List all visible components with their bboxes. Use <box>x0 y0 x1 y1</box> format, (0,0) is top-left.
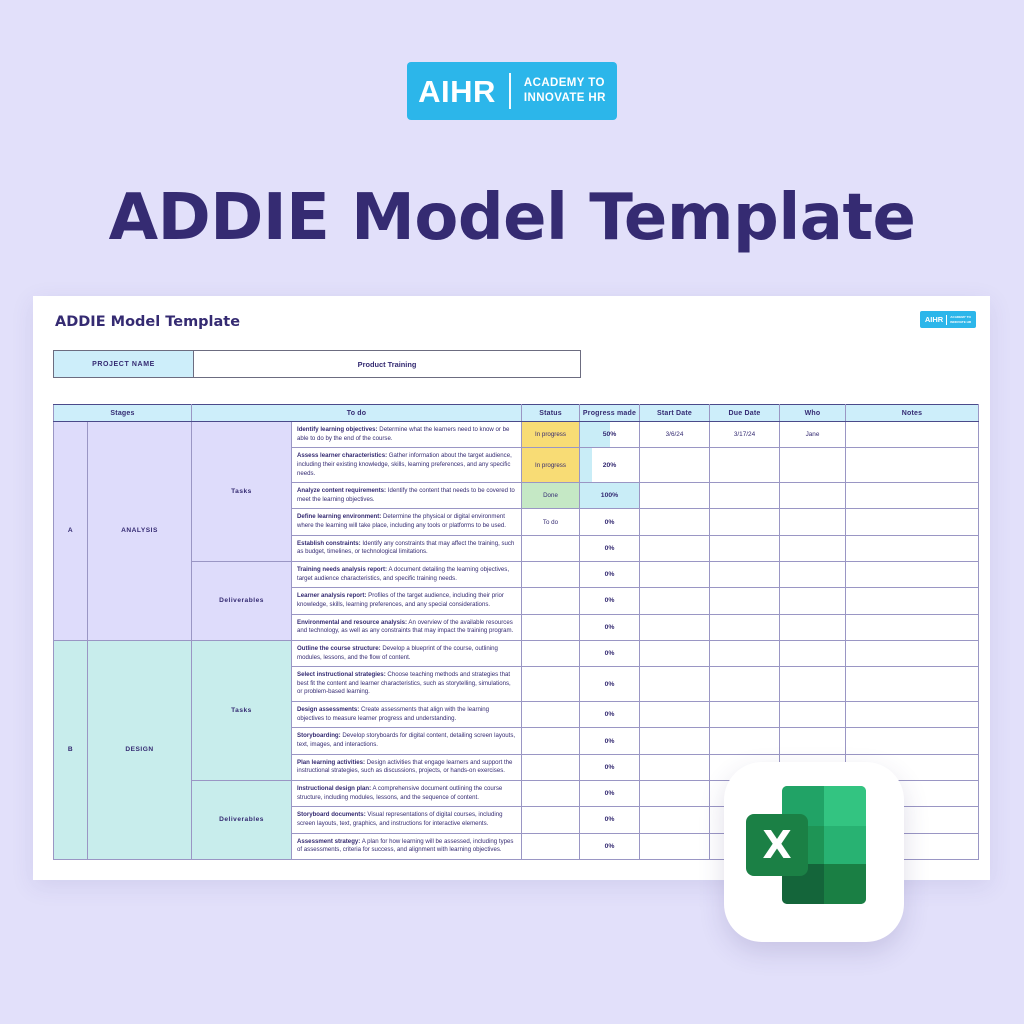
sheet-aihr-logo: AIHR ACADEMY TO INNOVATE HR <box>920 311 976 328</box>
who-cell[interactable] <box>780 448 846 483</box>
task-title: Training needs analysis report: <box>297 566 387 573</box>
who-cell[interactable] <box>780 509 846 535</box>
sheet-logo-wordmark: AIHR <box>925 315 943 324</box>
start-date-cell[interactable] <box>640 509 710 535</box>
col-header-stages[interactable]: Stages <box>54 405 192 422</box>
who-cell[interactable] <box>780 702 846 728</box>
due-date-cell[interactable] <box>710 535 780 561</box>
task-cell[interactable]: Analyze content requirements: Identify t… <box>292 483 522 509</box>
status-cell[interactable] <box>522 667 580 702</box>
progress-cell[interactable]: 0% <box>580 614 640 640</box>
status-cell[interactable] <box>522 702 580 728</box>
aihr-tagline-line1: ACADEMY TO <box>524 77 605 89</box>
due-date-cell[interactable] <box>710 702 780 728</box>
due-date-cell[interactable] <box>710 588 780 614</box>
task-title: Assess learner characteristics: <box>297 452 387 459</box>
progress-value: 0% <box>605 816 615 823</box>
progress-cell[interactable]: 0% <box>580 509 640 535</box>
task-title: Storyboard documents: <box>297 811 366 818</box>
start-date-cell[interactable] <box>640 640 710 666</box>
due-date-cell[interactable] <box>710 509 780 535</box>
who-cell[interactable] <box>780 640 846 666</box>
status-cell[interactable] <box>522 833 580 859</box>
notes-cell[interactable] <box>846 562 979 588</box>
table-row: AANALYSISTasksIdentify learning objectiv… <box>54 422 979 448</box>
sheet-logo-divider <box>946 315 947 325</box>
project-name-value[interactable]: Product Training <box>194 351 580 377</box>
col-header-todo[interactable]: To do <box>192 405 522 422</box>
task-title: Identify learning objectives: <box>297 426 378 433</box>
who-cell[interactable]: Jane <box>780 422 846 448</box>
task-title: Environmental and resource analysis: <box>297 619 407 626</box>
start-date-cell[interactable] <box>640 562 710 588</box>
task-title: Storyboarding: <box>297 732 341 739</box>
sheet-tagline-line2: INNOVATE HR <box>950 320 971 324</box>
notes-cell[interactable] <box>846 535 979 561</box>
col-header-start-date[interactable]: Start Date <box>640 405 710 422</box>
status-cell[interactable]: In progress <box>522 422 580 448</box>
progress-value: 0% <box>605 738 615 745</box>
progress-cell[interactable]: 0% <box>580 833 640 859</box>
status-cell[interactable]: Done <box>522 483 580 509</box>
due-date-cell[interactable] <box>710 667 780 702</box>
status-cell[interactable] <box>522 754 580 780</box>
progress-value: 0% <box>605 711 615 718</box>
stage-name: ANALYSIS <box>88 422 192 641</box>
task-title: Analyze content requirements: <box>297 487 386 494</box>
col-header-notes[interactable]: Notes <box>846 405 979 422</box>
stage-group-label: Tasks <box>192 640 292 780</box>
due-date-cell[interactable] <box>710 728 780 754</box>
aihr-logo: AIHR ACADEMY TO INNOVATE HR <box>407 62 617 120</box>
notes-cell[interactable] <box>846 448 979 483</box>
start-date-cell[interactable] <box>640 588 710 614</box>
notes-cell[interactable] <box>846 702 979 728</box>
page-title: ADDIE Model Template <box>0 181 1024 255</box>
start-date-cell[interactable] <box>640 448 710 483</box>
start-date-cell[interactable] <box>640 614 710 640</box>
notes-cell[interactable] <box>846 640 979 666</box>
status-cell[interactable] <box>522 780 580 806</box>
task-cell[interactable]: Instructional design plan: A comprehensi… <box>292 780 522 806</box>
progress-value: 100% <box>601 492 618 499</box>
progress-cell[interactable]: 0% <box>580 588 640 614</box>
start-date-cell[interactable] <box>640 780 710 806</box>
status-cell[interactable] <box>522 562 580 588</box>
status-cell[interactable] <box>522 535 580 561</box>
progress-cell[interactable]: 0% <box>580 780 640 806</box>
table-row: BDESIGNTasksOutline the course structure… <box>54 640 979 666</box>
status-cell[interactable] <box>522 588 580 614</box>
table-row: DeliverablesTraining needs analysis repo… <box>54 562 979 588</box>
progress-value: 0% <box>605 571 615 578</box>
start-date-cell[interactable] <box>640 702 710 728</box>
status-cell[interactable] <box>522 640 580 666</box>
progress-value: 0% <box>605 519 615 526</box>
progress-value: 0% <box>605 790 615 797</box>
progress-cell[interactable]: 0% <box>580 667 640 702</box>
task-title: Outline the course structure: <box>297 645 381 652</box>
progress-value: 0% <box>605 597 615 604</box>
task-cell[interactable]: Assessment strategy: A plan for how lear… <box>292 833 522 859</box>
start-date-cell[interactable] <box>640 535 710 561</box>
task-title: Assessment strategy: <box>297 838 360 845</box>
excel-x-tile: X <box>746 814 808 876</box>
task-title: Learner analysis report: <box>297 592 366 599</box>
stage-group-label: Deliverables <box>192 562 292 641</box>
task-cell[interactable]: Identify learning objectives: Determine … <box>292 422 522 448</box>
start-date-cell[interactable] <box>640 807 710 833</box>
start-date-cell[interactable] <box>640 667 710 702</box>
progress-bar-fill <box>580 448 592 482</box>
project-name-row: PROJECT NAME Product Training <box>53 350 581 378</box>
task-cell[interactable]: Establish constraints: Identify any cons… <box>292 535 522 561</box>
who-cell[interactable] <box>780 614 846 640</box>
notes-cell[interactable] <box>846 509 979 535</box>
project-name-label: PROJECT NAME <box>54 351 194 377</box>
progress-cell[interactable]: 0% <box>580 754 640 780</box>
aihr-tagline-line2: INNOVATE HR <box>524 92 606 104</box>
progress-cell[interactable]: 100% <box>580 483 640 509</box>
sheet-title: ADDIE Model Template <box>55 314 240 330</box>
col-header-status[interactable]: Status <box>522 405 580 422</box>
task-cell[interactable]: Plan learning activities: Design activit… <box>292 754 522 780</box>
due-date-cell[interactable] <box>710 483 780 509</box>
screenshot-root: AIHR ACADEMY TO INNOVATE HR ADDIE Model … <box>0 0 1024 1024</box>
task-cell[interactable]: Training needs analysis report: A docume… <box>292 562 522 588</box>
who-cell[interactable] <box>780 483 846 509</box>
task-cell[interactable]: Select instructional strategies: Choose … <box>292 667 522 702</box>
notes-cell[interactable] <box>846 422 979 448</box>
task-cell[interactable]: Define learning environment: Determine t… <box>292 509 522 535</box>
aihr-tagline: ACADEMY TO INNOVATE HR <box>524 76 606 106</box>
progress-cell[interactable]: 0% <box>580 807 640 833</box>
start-date-cell[interactable] <box>640 483 710 509</box>
start-date-cell[interactable] <box>640 833 710 859</box>
aihr-wordmark: AIHR <box>418 76 496 107</box>
due-date-cell[interactable] <box>710 448 780 483</box>
excel-file-icon: X <box>724 762 904 942</box>
notes-cell[interactable] <box>846 483 979 509</box>
progress-cell[interactable]: 20% <box>580 448 640 483</box>
status-cell[interactable] <box>522 614 580 640</box>
task-cell[interactable]: Learner analysis report: Profiles of the… <box>292 588 522 614</box>
task-cell[interactable]: Storyboarding: Develop storyboards for d… <box>292 728 522 754</box>
task-title: Design assessments: <box>297 706 359 713</box>
task-cell[interactable]: Design assessments: Create assessments t… <box>292 702 522 728</box>
sheet-logo-tagline: ACADEMY TO INNOVATE HR <box>950 315 971 323</box>
status-cell[interactable] <box>522 807 580 833</box>
task-cell[interactable]: Assess learner characteristics: Gather i… <box>292 448 522 483</box>
progress-cell[interactable]: 0% <box>580 640 640 666</box>
progress-value: 50% <box>603 431 617 438</box>
progress-cell[interactable]: 0% <box>580 535 640 561</box>
notes-cell[interactable] <box>846 667 979 702</box>
stage-group-label: Deliverables <box>192 780 292 859</box>
due-date-cell[interactable] <box>710 562 780 588</box>
progress-value: 0% <box>605 681 615 688</box>
task-cell[interactable]: Outline the course structure: Develop a … <box>292 640 522 666</box>
progress-value: 0% <box>605 843 615 850</box>
who-cell[interactable] <box>780 588 846 614</box>
due-date-cell[interactable]: 3/17/24 <box>710 422 780 448</box>
progress-value: 0% <box>605 650 615 657</box>
progress-value: 0% <box>605 764 615 771</box>
progress-value: 20% <box>603 462 617 469</box>
task-cell[interactable]: Environmental and resource analysis: An … <box>292 614 522 640</box>
progress-cell[interactable]: 0% <box>580 562 640 588</box>
notes-cell[interactable] <box>846 728 979 754</box>
progress-cell[interactable]: 0% <box>580 702 640 728</box>
due-date-cell[interactable] <box>710 640 780 666</box>
status-cell[interactable] <box>522 728 580 754</box>
stage-group-label: Tasks <box>192 422 292 562</box>
due-date-cell[interactable] <box>710 614 780 640</box>
stage-letter: B <box>54 640 88 859</box>
who-cell[interactable] <box>780 562 846 588</box>
task-title: Define learning environment: <box>297 513 381 520</box>
start-date-cell[interactable]: 3/6/24 <box>640 422 710 448</box>
col-header-progress[interactable]: Progress made <box>580 405 640 422</box>
notes-cell[interactable] <box>846 588 979 614</box>
progress-value: 0% <box>605 545 615 552</box>
stage-name: DESIGN <box>88 640 192 859</box>
who-cell[interactable] <box>780 535 846 561</box>
progress-cell[interactable]: 50% <box>580 422 640 448</box>
progress-cell[interactable]: 0% <box>580 728 640 754</box>
notes-cell[interactable] <box>846 614 979 640</box>
task-title: Plan learning activities: <box>297 759 365 766</box>
col-header-due-date[interactable]: Due Date <box>710 405 780 422</box>
start-date-cell[interactable] <box>640 728 710 754</box>
task-title: Select instructional strategies: <box>297 671 386 678</box>
stage-letter: A <box>54 422 88 641</box>
task-title: Instructional design plan: <box>297 785 371 792</box>
logo-divider <box>509 73 511 109</box>
col-header-who[interactable]: Who <box>780 405 846 422</box>
table-header-row: Stages To do Status Progress made Start … <box>54 405 979 422</box>
excel-letter: X <box>762 826 791 864</box>
start-date-cell[interactable] <box>640 754 710 780</box>
who-cell[interactable] <box>780 667 846 702</box>
status-cell[interactable]: To do <box>522 509 580 535</box>
status-cell[interactable]: In progress <box>522 448 580 483</box>
who-cell[interactable] <box>780 728 846 754</box>
progress-value: 0% <box>605 624 615 631</box>
task-title: Establish constraints: <box>297 540 361 547</box>
task-cell[interactable]: Storyboard documents: Visual representat… <box>292 807 522 833</box>
